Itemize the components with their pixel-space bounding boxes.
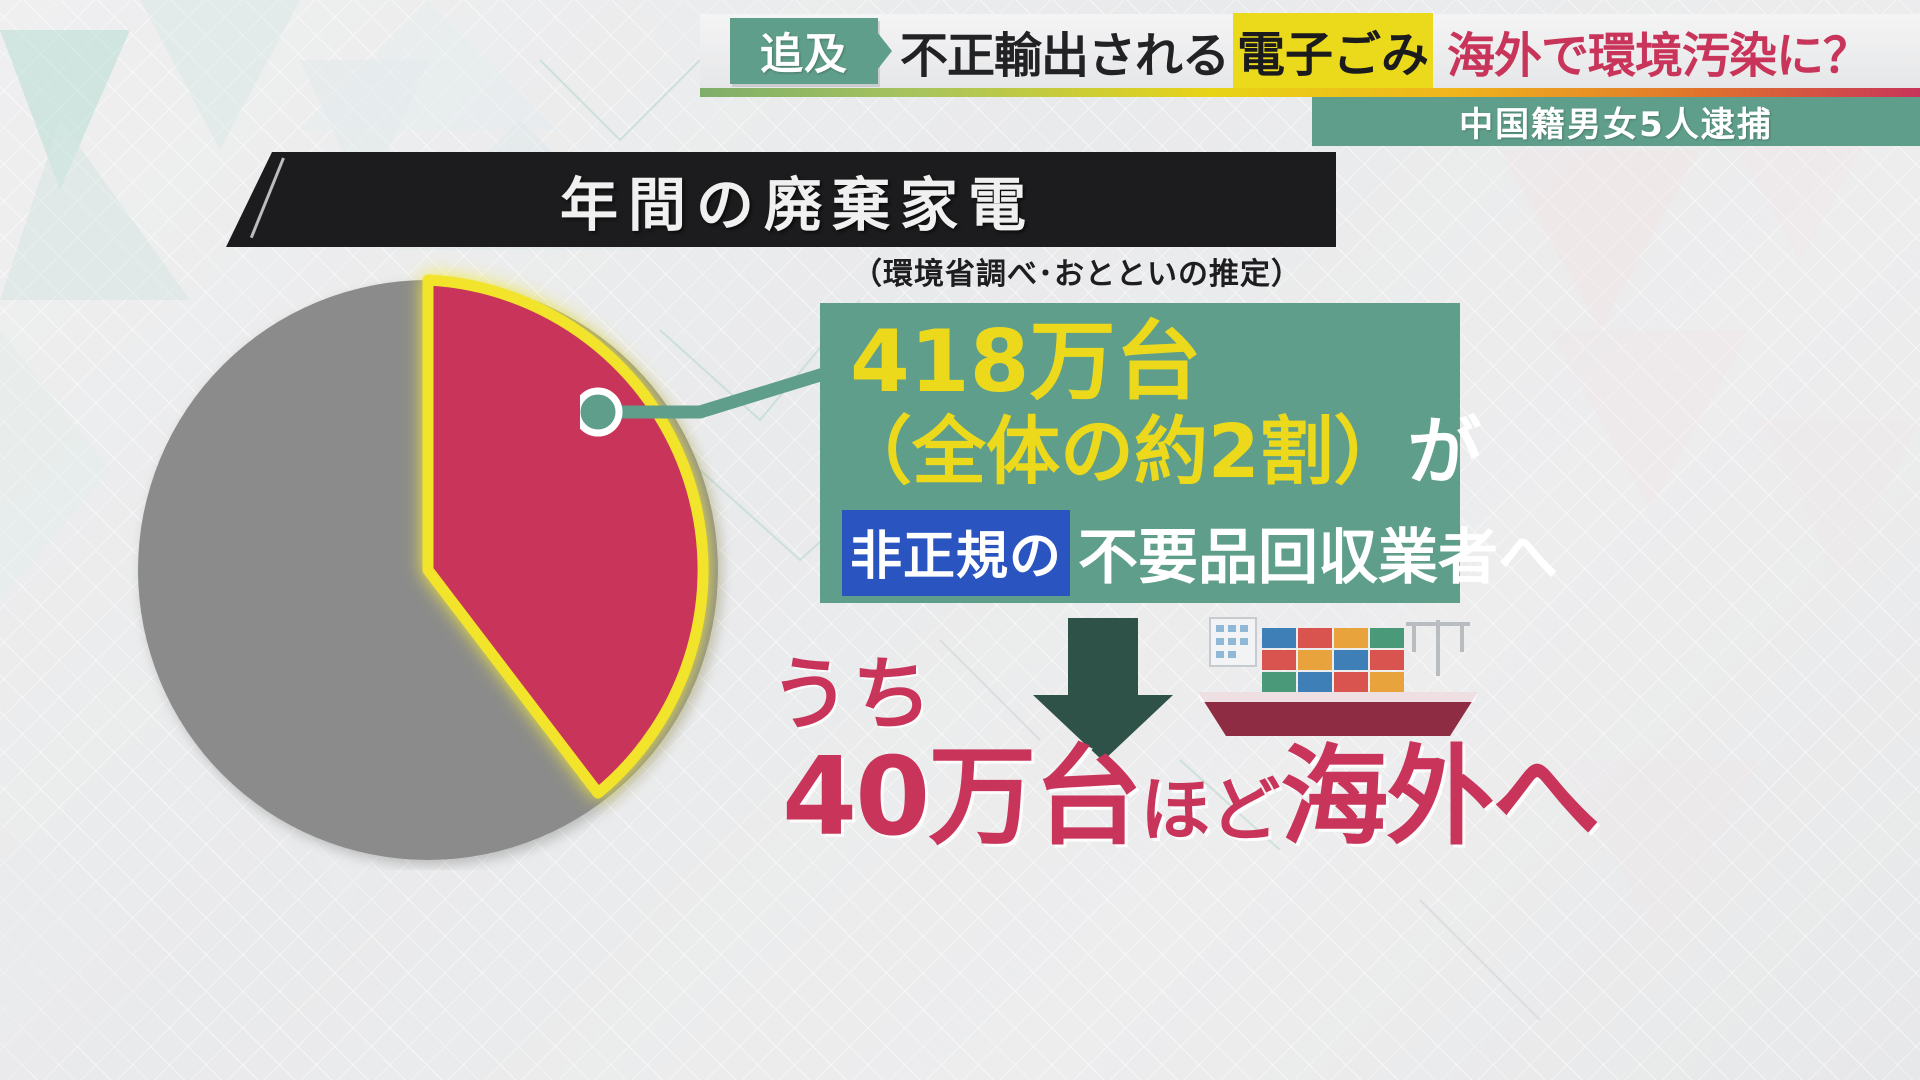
callout-subline: （全体の約2割）が bbox=[838, 415, 1458, 489]
header: 追及 不正輸出される 電子ごみ 海外で環境汚染に？ bbox=[0, 0, 1920, 96]
callout-suffix: が bbox=[1408, 409, 1482, 495]
chart-title-banner: 年間の廃棄家電 bbox=[226, 152, 1336, 247]
callout-irregular-tag: 非正規の bbox=[842, 510, 1070, 596]
callout-paren-text: （全体の約2割） bbox=[838, 409, 1408, 495]
headline-highlight: 電子ごみ bbox=[1233, 13, 1433, 89]
bottom-approx: ほど bbox=[1140, 754, 1280, 855]
header-gradient-rule bbox=[700, 88, 1920, 97]
broadcast-graphic: 追及 不正輸出される 電子ごみ 海外で環境汚染に？ 中国籍男女5人逮捕 年間の廃… bbox=[0, 0, 1920, 1080]
chart-attribution: （環境省調べ･おとといの推定） bbox=[852, 252, 1372, 290]
header-subbar-label: 中国籍男女5人逮捕 bbox=[1459, 97, 1773, 146]
header-subbar: 中国籍男女5人逮捕 bbox=[1312, 97, 1920, 146]
bottom-destination: 海外へ bbox=[1280, 710, 1598, 866]
bottom-figure-line: 40万台 ほど 海外へ bbox=[782, 710, 1598, 866]
callout-destination: 不要品回収業者へ bbox=[1078, 509, 1558, 596]
header-category-tag: 追及 bbox=[730, 18, 878, 84]
header-headline: 不正輸出される 電子ごみ 海外で環境汚染に？ bbox=[900, 16, 1870, 86]
header-category-tag-label: 追及 bbox=[760, 20, 848, 82]
callout-destination-row: 非正規の 不要品回収業者へ bbox=[842, 509, 1462, 596]
bottom-number: 40万台 bbox=[782, 710, 1140, 866]
chart-title: 年間の廃棄家電 bbox=[560, 158, 1036, 242]
chart-attribution-label: （環境省調べ･おとといの推定） bbox=[852, 249, 1302, 293]
leader-anchor-dot bbox=[580, 391, 619, 433]
header-tag-notch bbox=[866, 18, 892, 84]
headline-part1: 不正輸出される bbox=[900, 16, 1229, 86]
callout-number: 418万台 bbox=[850, 319, 1450, 405]
callout-box: 418万台 （全体の約2割）が 非正規の 不要品回収業者へ bbox=[820, 303, 1460, 603]
headline-part2: 海外で環境汚染に？ bbox=[1447, 16, 1870, 86]
